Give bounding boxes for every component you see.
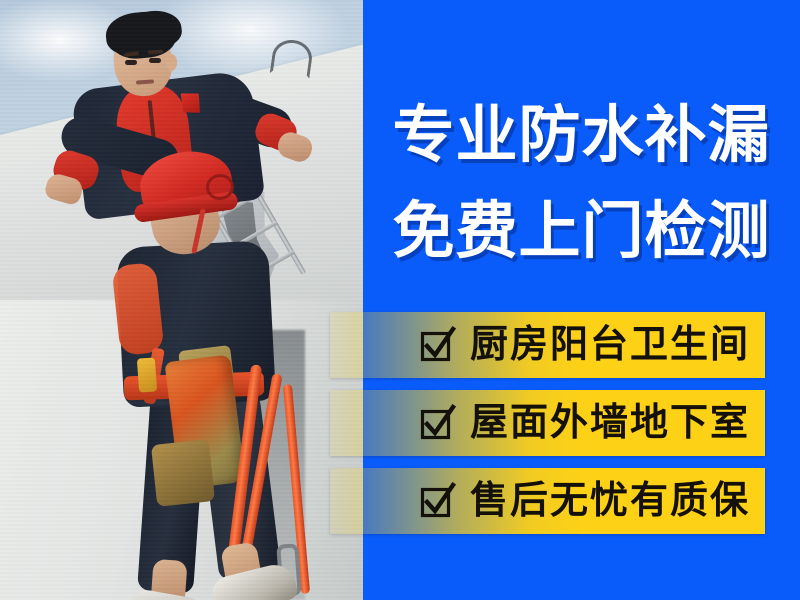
feature-item-3[interactable]: 售后无忧有质保	[330, 468, 765, 534]
worker-bottom	[96, 152, 326, 592]
headline-line-2: 免费上门检测	[363, 184, 800, 280]
feature-label: 售后无忧有质保	[470, 482, 750, 520]
feature-list: 厨房阳台卫生间 屋面外墙地下室 售后无忧有质保	[330, 312, 765, 546]
feature-item-1[interactable]: 厨房阳台卫生间	[330, 312, 765, 378]
feature-item-2[interactable]: 屋面外墙地下室	[330, 390, 765, 456]
checkbox-checked-icon	[420, 328, 454, 362]
feature-label: 厨房阳台卫生间	[470, 326, 750, 364]
headline-line-1: 专业防水补漏	[363, 88, 800, 184]
checkbox-checked-icon	[420, 406, 454, 440]
checkbox-checked-icon	[420, 484, 454, 518]
jacket-flag-patch	[181, 91, 202, 115]
headline-block: 专业防水补漏 免费上门检测	[363, 88, 800, 280]
feature-label: 屋面外墙地下室	[470, 404, 750, 442]
waterproofing-ad-banner: 专业防水补漏 免费上门检测 厨房阳台卫生间 屋面外墙地下室	[0, 0, 800, 600]
